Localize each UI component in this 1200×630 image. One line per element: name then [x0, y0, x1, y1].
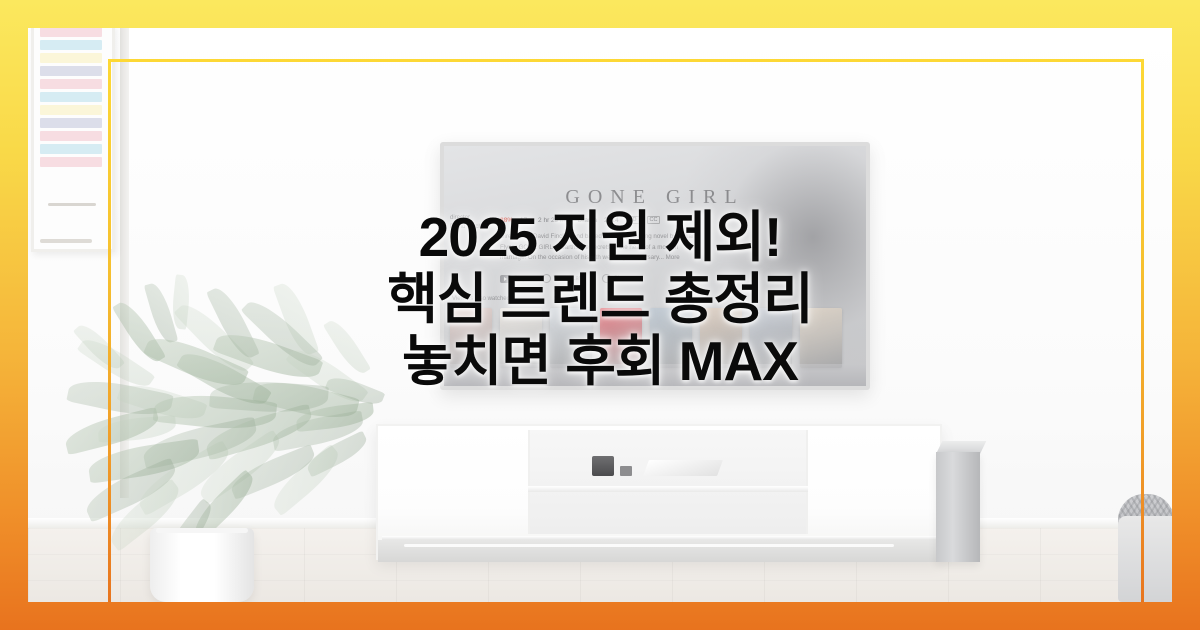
- wall-art-stripe-2: [40, 40, 102, 50]
- console-laptop: [643, 460, 723, 476]
- wall-art-stripes: [40, 28, 102, 185]
- console-niche: [528, 430, 808, 534]
- thumbnail-card: GONE GIRL director David Fincher 88% 17+…: [0, 0, 1200, 630]
- wall-art-stripe-10: [40, 144, 102, 154]
- plant-pot: [150, 528, 254, 602]
- wall-art-stripe-6: [40, 92, 102, 102]
- headline-block: 2025 지원 제외! 핵심 트렌드 총정리 놓치면 후회 MAX: [0, 206, 1200, 392]
- wall-art-stripe-7: [40, 105, 102, 115]
- headline-line-1: 2025 지원 제외!: [90, 206, 1110, 268]
- media-console: [376, 424, 942, 560]
- console-set-top-box: [592, 456, 614, 476]
- headline-line-2: 핵심 트렌드 총정리: [90, 268, 1110, 330]
- wall-art-stripe-11: [40, 157, 102, 167]
- wall-art-stripe-9: [40, 131, 102, 141]
- console-shelf: [528, 486, 808, 492]
- wall-art-stripe-5: [40, 79, 102, 89]
- basket-planter-base: [1118, 516, 1172, 602]
- wall-art-stripe-8: [40, 118, 102, 128]
- wall-art-stripe-4: [40, 66, 102, 76]
- headline-line-3: 놓치면 후회 MAX: [90, 330, 1110, 392]
- floor-speaker: [936, 452, 980, 562]
- wall-art-stripe-1: [40, 28, 102, 37]
- console-drawer-handle: [404, 544, 894, 547]
- wall-art-stripe-3: [40, 53, 102, 63]
- console-small-device: [620, 466, 632, 476]
